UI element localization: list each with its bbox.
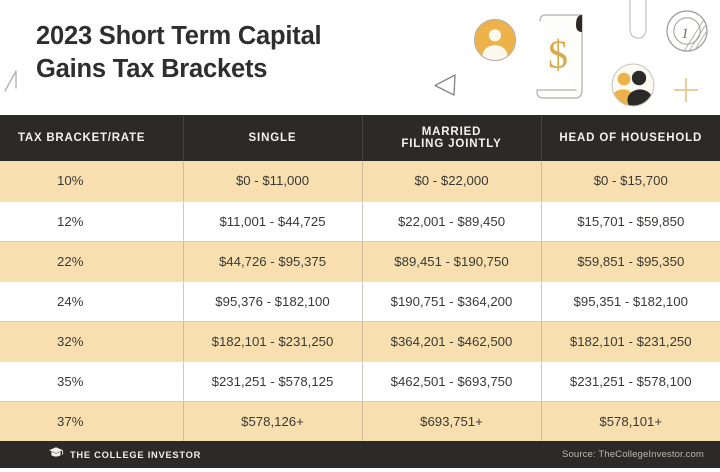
table-row: 22% $44,726 - $95,375 $89,451 - $190,750… (0, 241, 720, 281)
footer-bar: THE COLLEGE INVESTOR Source: TheCollegeI… (0, 441, 720, 468)
cell-rate: 37% (0, 401, 183, 441)
cell-single: $95,376 - $182,100 (183, 281, 362, 321)
table-header-row: TAX BRACKET/RATE SINGLE MARRIED FILING J… (0, 115, 720, 161)
table-row: 24% $95,376 - $182,100 $190,751 - $364,2… (0, 281, 720, 321)
people-group-icon (608, 60, 658, 115)
cell-mfj: $22,001 - $89,450 (362, 201, 541, 241)
cell-rate: 12% (0, 201, 183, 241)
page-title-line-2: Gains Tax Brackets (36, 55, 267, 83)
cell-hoh: $59,851 - $95,350 (541, 241, 720, 281)
tax-brackets-table: TAX BRACKET/RATE SINGLE MARRIED FILING J… (0, 115, 720, 441)
column-header-mfj-line-1: MARRIED (369, 126, 535, 138)
svg-text:$: $ (548, 32, 568, 77)
plus-icon (672, 76, 700, 109)
coin-label: 1 (681, 26, 689, 42)
cell-rate: 24% (0, 281, 183, 321)
cell-single: $578,126+ (183, 401, 362, 441)
cell-single: $182,101 - $231,250 (183, 321, 362, 361)
table-header: TAX BRACKET/RATE SINGLE MARRIED FILING J… (0, 115, 720, 161)
cell-mfj: $89,451 - $190,750 (362, 241, 541, 281)
cell-rate: 35% (0, 361, 183, 401)
table-row: 10% $0 - $11,000 $0 - $22,000 $0 - $15,7… (0, 161, 720, 201)
pill-shape-icon (625, 0, 651, 51)
column-header-mfj-line-2: FILING JOINTLY (369, 138, 535, 150)
user-avatar-icon (472, 17, 518, 68)
cell-mfj: $190,751 - $364,200 (362, 281, 541, 321)
cell-hoh: $95,351 - $182,100 (541, 281, 720, 321)
infographic-root: 2023 Short Term Capital Gains Tax Bracke… (0, 0, 720, 472)
cell-mfj: $0 - $22,000 (362, 161, 541, 201)
table-row: 12% $11,001 - $44,725 $22,001 - $89,450 … (0, 201, 720, 241)
cell-single: $0 - $11,000 (183, 161, 362, 201)
brand-name: THE COLLEGE INVESTOR (70, 450, 201, 460)
cell-rate: 10% (0, 161, 183, 201)
source-attribution: Source: TheCollegeInvestor.com (562, 449, 704, 460)
cell-hoh: $182,101 - $231,250 (541, 321, 720, 361)
cell-hoh: $0 - $15,700 (541, 161, 720, 201)
cell-hoh: $578,101+ (541, 401, 720, 441)
hero-section: 2023 Short Term Capital Gains Tax Bracke… (0, 0, 720, 115)
cell-rate: 22% (0, 241, 183, 281)
slash-mark-icon (2, 68, 20, 99)
page-title-line-1: 2023 Short Term Capital (36, 22, 321, 50)
cell-single: $231,251 - $578,125 (183, 361, 362, 401)
cell-single: $11,001 - $44,725 (183, 201, 362, 241)
page-title: 2023 Short Term Capital Gains Tax Bracke… (36, 20, 436, 86)
table-row: 35% $231,251 - $578,125 $462,501 - $693,… (0, 361, 720, 401)
column-header-married-filing-jointly: MARRIED FILING JOINTLY (362, 115, 541, 161)
cell-rate: 32% (0, 321, 183, 361)
graduation-cap-icon (48, 446, 64, 464)
table-body: 10% $0 - $11,000 $0 - $22,000 $0 - $15,7… (0, 161, 720, 441)
cell-mfj: $693,751+ (362, 401, 541, 441)
cell-hoh: $231,251 - $578,100 (541, 361, 720, 401)
coin-one-icon: 1 (660, 4, 714, 63)
brand-lockup: THE COLLEGE INVESTOR (48, 446, 201, 464)
cell-mfj: $364,201 - $462,500 (362, 321, 541, 361)
scroll-dollar-icon: $ (532, 12, 594, 109)
cell-single: $44,726 - $95,375 (183, 241, 362, 281)
cell-hoh: $15,701 - $59,850 (541, 201, 720, 241)
table-row: 37% $578,126+ $693,751+ $578,101+ (0, 401, 720, 441)
cell-mfj: $462,501 - $693,750 (362, 361, 541, 401)
column-header-single: SINGLE (183, 115, 362, 161)
table-row: 32% $182,101 - $231,250 $364,201 - $462,… (0, 321, 720, 361)
column-header-head-of-household: HEAD OF HOUSEHOLD (541, 115, 720, 161)
column-header-rate: TAX BRACKET/RATE (0, 115, 183, 161)
